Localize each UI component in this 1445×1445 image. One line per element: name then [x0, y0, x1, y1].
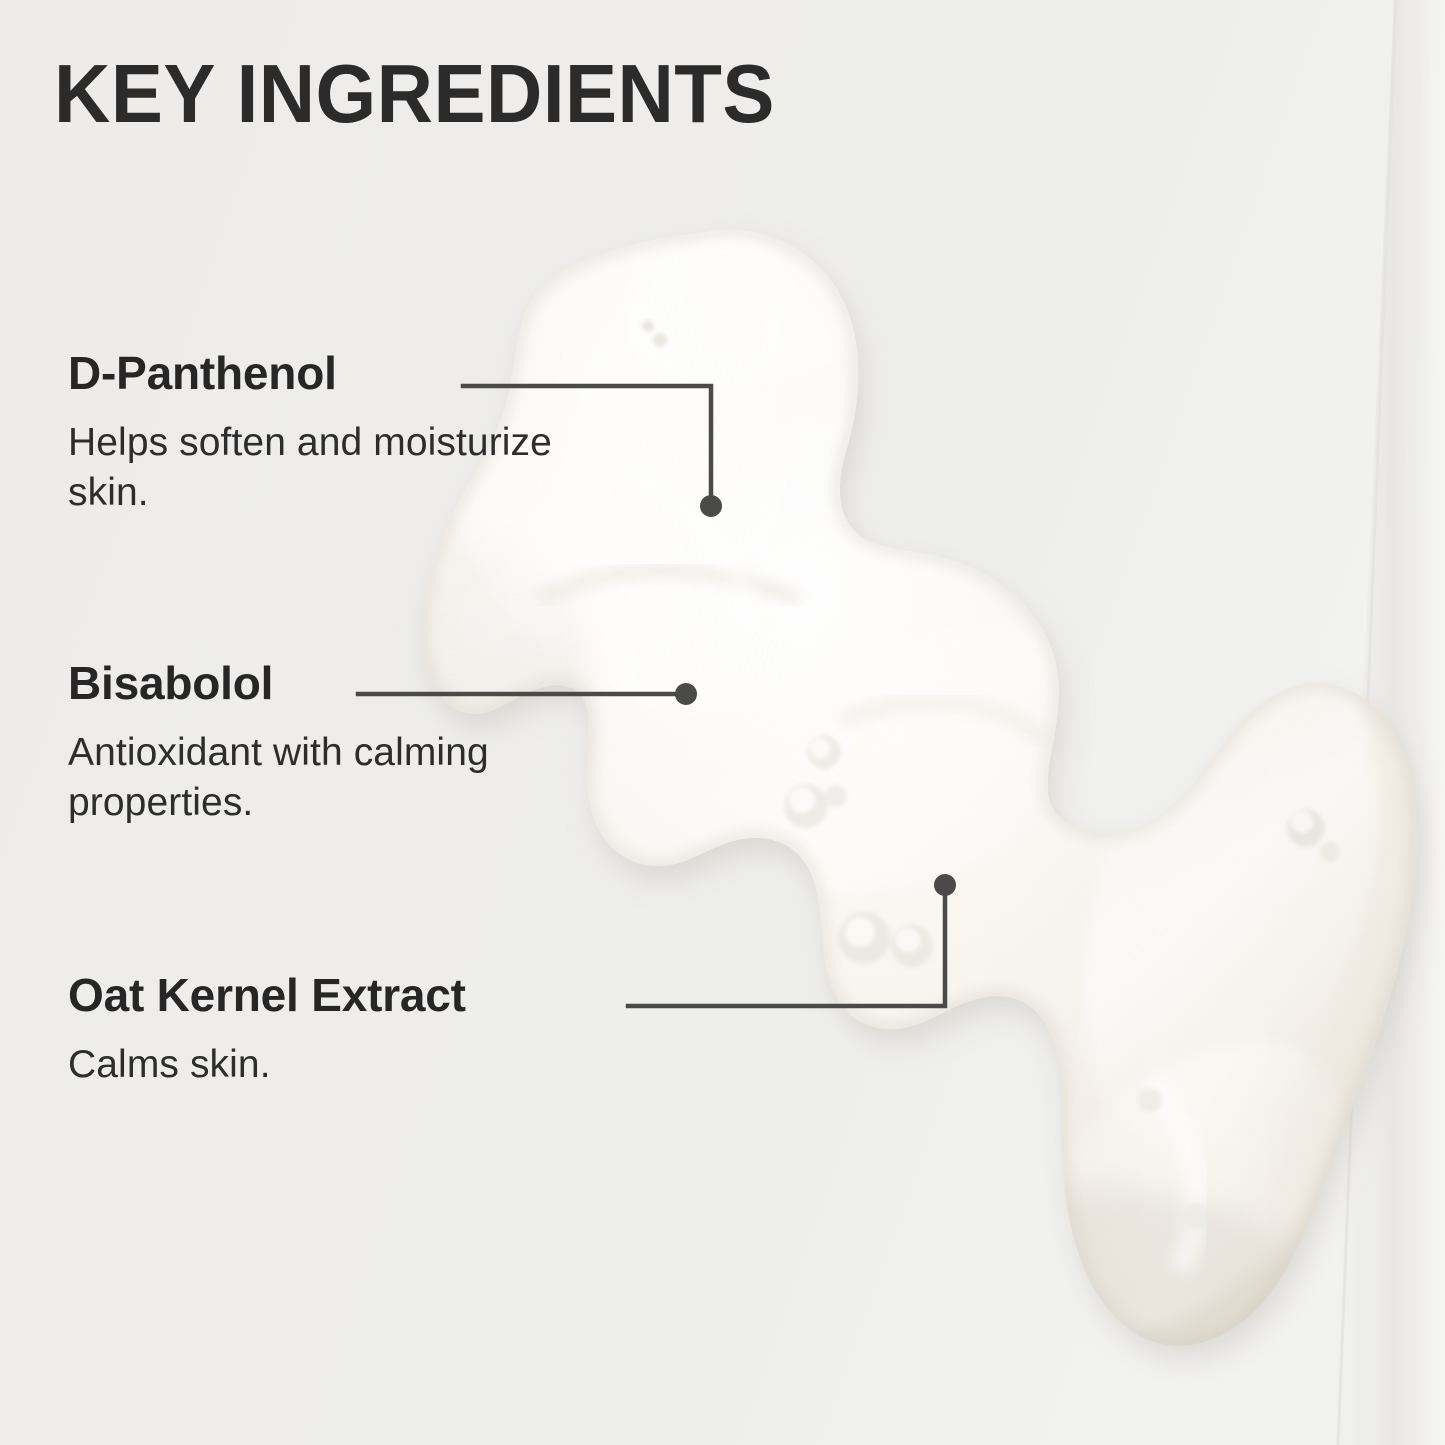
callout-description: Calms skin. — [68, 1020, 466, 1090]
callout-d-panthenol: D-Panthenol Helps soften and moisturize … — [68, 350, 628, 518]
callout-name: D-Panthenol — [68, 350, 628, 398]
callout-name: Bisabolol — [68, 660, 628, 708]
callout-bisabolol: Bisabolol Antioxidant with calming prope… — [68, 660, 628, 828]
page-title: KEY INGREDIENTS — [54, 52, 775, 135]
infographic-canvas: KEY INGREDIENTS D-Panthenol Helps soften… — [0, 0, 1445, 1445]
callout-name: Oat Kernel Extract — [68, 972, 466, 1020]
callout-oat-kernel-extract: Oat Kernel Extract Calms skin. — [68, 972, 466, 1090]
callout-description: Antioxidant with calming properties. — [68, 708, 628, 828]
callout-description: Helps soften and moisturize skin. — [68, 398, 628, 518]
